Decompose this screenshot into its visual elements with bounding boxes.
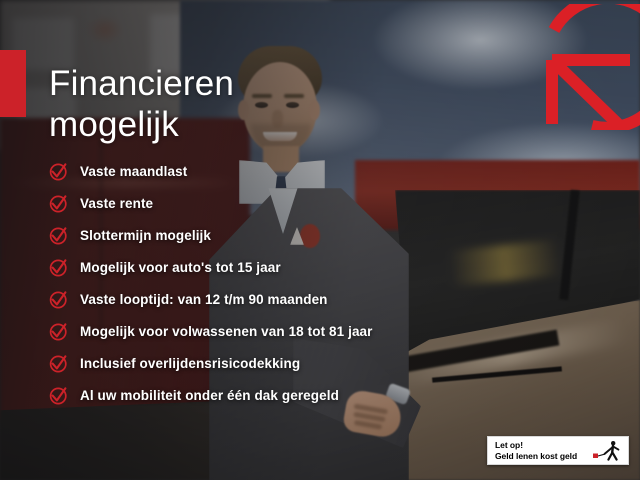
list-item-label: Vaste maandlast [80, 164, 187, 179]
list-item-label: Mogelijk voor auto's tot 15 jaar [80, 260, 281, 275]
check-circle-icon [48, 161, 69, 182]
check-circle-icon [48, 289, 69, 310]
badge-line-1: Let op! [495, 440, 577, 451]
red-accent-block [0, 50, 26, 117]
check-circle-icon [48, 353, 69, 374]
list-item: Inclusief overlijdensrisicodekking [48, 347, 468, 379]
list-item: Al uw mobiliteit onder één dak geregeld [48, 379, 468, 411]
list-item-label: Vaste looptijd: van 12 t/m 90 maanden [80, 292, 328, 307]
feature-list: Vaste maandlastVaste renteSlottermijn mo… [48, 155, 468, 411]
list-item: Mogelijk voor auto's tot 15 jaar [48, 251, 468, 283]
headline-line-1: Financieren [49, 63, 379, 104]
list-item: Vaste looptijd: van 12 t/m 90 maanden [48, 283, 468, 315]
list-item-label: Al uw mobiliteit onder één dak geregeld [80, 388, 339, 403]
promo-banner: Financieren mogelijk Vaste maandlastVast… [0, 0, 640, 480]
list-item: Vaste rente [48, 187, 468, 219]
status-badge: Let op! Geld lenen kost geld [487, 436, 629, 465]
list-item-label: Slottermijn mogelijk [80, 228, 211, 243]
check-circle-icon [48, 385, 69, 406]
check-circle-icon [48, 321, 69, 342]
check-circle-icon [48, 257, 69, 278]
list-item: Slottermijn mogelijk [48, 219, 468, 251]
page-title: Financieren mogelijk [49, 63, 379, 145]
list-item: Mogelijk voor volwassenen van 18 tot 81 … [48, 315, 468, 347]
list-item-label: Inclusief overlijdensrisicodekking [80, 356, 300, 371]
list-item-label: Mogelijk voor volwassenen van 18 tot 81 … [80, 324, 373, 339]
man-pulling-weight-icon [593, 440, 623, 462]
list-item-label: Vaste rente [80, 196, 153, 211]
check-circle-icon [48, 225, 69, 246]
headline-line-2: mogelijk [49, 104, 379, 145]
badge-text: Let op! Geld lenen kost geld [495, 440, 577, 461]
red-circular-arrow-icon [530, 4, 640, 130]
list-item: Vaste maandlast [48, 155, 468, 187]
check-circle-icon [48, 193, 69, 214]
badge-line-2: Geld lenen kost geld [495, 451, 577, 462]
